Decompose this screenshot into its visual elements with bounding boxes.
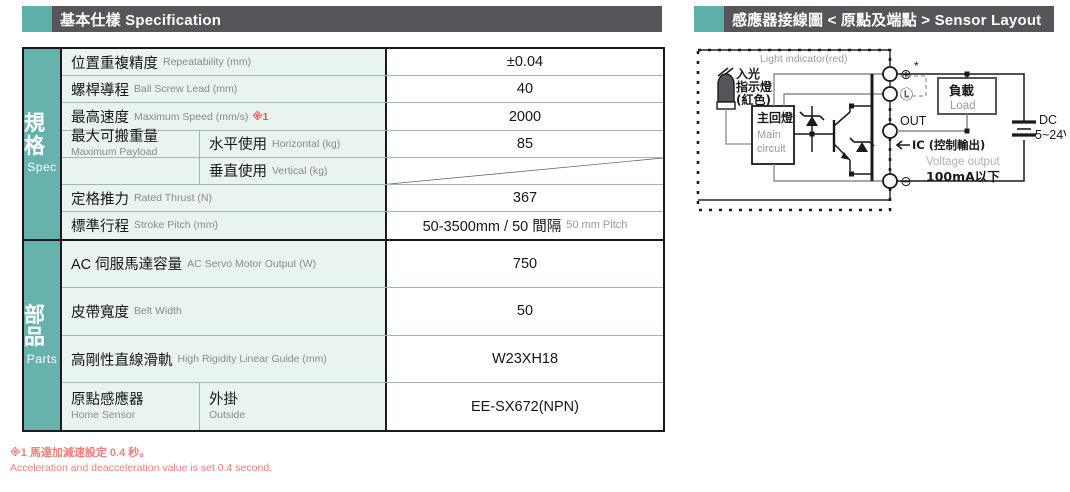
footnote-line-en: Acceleration and deacceleration value is…	[10, 461, 272, 475]
load-label-en: Load	[950, 100, 976, 112]
load-label-cn: 負載	[949, 83, 975, 98]
terminal-plus-label: ⊕	[900, 67, 912, 83]
main-circuit-label-cn: 主回燈	[757, 110, 794, 125]
row-value: 50-3500mm / 50 間隔 50 mm Pitch	[387, 212, 663, 238]
table-row: 螺桿導程 Ball Screw Lead (mm) 40	[62, 75, 663, 102]
row-label-cn: 最大可搬重量	[71, 129, 158, 146]
row-label: 定格推力 Rated Thrust (N)	[62, 185, 387, 211]
specification-title: 基本仕樣 Specification	[52, 9, 221, 30]
footnote-line-cn: ※1 馬達加減速設定 0.4 秒。	[10, 446, 272, 461]
row-label-cn: 皮帶寬度	[71, 301, 129, 322]
zener-diode-2-icon	[850, 136, 874, 152]
row-label-cn: 原點感應器	[71, 392, 144, 409]
junction-dot	[965, 72, 970, 77]
table-row: AC 伺服馬達容量 AC Servo Motor Output (W) 750	[62, 241, 663, 288]
light-indicator-label-cn2: 指示燈	[736, 79, 773, 94]
row-sublabel-cn: 外掛	[209, 392, 238, 409]
row-sublabel-horizontal: 水平使用 Horizontal (kg)	[200, 131, 387, 157]
dc-supply-icon	[1012, 122, 1036, 135]
table-row: 最高速度 Maximum Speed (mm/s) ※1 2000	[62, 102, 663, 129]
row-label: AC 伺服馬達容量 AC Servo Motor Output (W)	[62, 241, 387, 288]
row-label-cn: 位置重複精度	[71, 52, 158, 73]
terminal-l-node	[883, 87, 897, 101]
row-value-text: ±0.04	[507, 54, 543, 70]
row-label-cn: 定格推力	[71, 188, 129, 209]
row-sublabel-vertical: 垂直使用 Vertical (kg)	[200, 158, 387, 184]
row-value-text: 367	[513, 190, 537, 206]
junction-dot	[849, 172, 854, 177]
sensor-layout-title: 感應器接線圖 < 原點及端點 > Sensor Layout	[724, 9, 1041, 30]
row-value-text: 750	[513, 256, 537, 272]
row-sublabel-en: Outside	[209, 409, 245, 422]
table-group-spec: 規格 Spec 位置重複精度 Repeatability (mm) ±0.04 …	[24, 49, 663, 239]
row-value-text: 85	[517, 136, 533, 152]
table-row: 垂直使用 Vertical (kg)	[62, 157, 663, 184]
group-rows-spec: 位置重複精度 Repeatability (mm) ±0.04 螺桿導程 Bal…	[62, 49, 663, 239]
row-value-text: 50	[517, 303, 533, 319]
light-indicator-label-en: Light indicator(red)	[760, 53, 848, 65]
header-accent-block	[694, 6, 724, 32]
dc-range-label: 5~24V	[1035, 128, 1066, 142]
row-value-subtext: 50 mm Pitch	[566, 219, 627, 231]
row-label-cn: 標準行程	[71, 215, 129, 236]
header-accent-block	[22, 6, 52, 32]
terminal-out-node	[883, 124, 897, 138]
row-label: 螺桿導程 Ball Screw Lead (mm)	[62, 76, 387, 102]
row-value: 85	[387, 131, 663, 157]
row-sublabel-cn: 垂直使用	[209, 160, 267, 181]
sensor-layout-section-header: 感應器接線圖 < 原點及端點 > Sensor Layout	[694, 6, 1054, 32]
table-row: 定格推力 Rated Thrust (N) 367	[62, 184, 663, 211]
sensor-wiring-diagram: Light indicator(red) 入光 指示燈 (紅色) 主回燈 Mai…	[694, 44, 1066, 216]
voltage-output-label: Voltage output	[926, 156, 1000, 168]
light-indicator-label-cn1: 入光	[736, 66, 760, 81]
table-row: 最大可搬重量 Maximum Payload 水平使用 Horizontal (…	[62, 130, 663, 157]
group-label-cn: 部品	[24, 305, 60, 350]
row-label-footnote-mark: ※1	[252, 111, 268, 123]
row-label-en: Stroke Pitch (mm)	[134, 219, 218, 231]
row-value-text: 40	[517, 81, 533, 97]
junction-dot	[965, 129, 970, 134]
terminal-minus-label: ⊖	[900, 174, 912, 190]
row-value: EE-SX672(NPN)	[387, 383, 663, 430]
row-label-payload-spacer	[62, 158, 200, 184]
ic-arrow-icon	[897, 141, 910, 149]
row-label-cn: 螺桿導程	[71, 79, 129, 100]
group-label-parts: 部品 Parts	[24, 241, 62, 431]
row-label: 標準行程 Stroke Pitch (mm)	[62, 212, 387, 238]
row-sublabel-cn: 水平使用	[209, 133, 267, 154]
row-label-en: Maximum Speed (mm/s)	[134, 111, 248, 123]
table-row: 原點感應器 Home Sensor 外掛 Outside EE-SX672(NP…	[62, 382, 663, 430]
row-label-en: High Rigidity Linear Guide (mm)	[178, 353, 327, 365]
row-label: 最高速度 Maximum Speed (mm/s) ※1	[62, 103, 387, 129]
terminal-out-label: OUT	[900, 114, 927, 128]
main-circuit-label-en1: Main	[757, 129, 781, 141]
wire-l	[784, 94, 890, 106]
row-value: W23XH18	[387, 336, 663, 383]
row-label-en: Repeatability (mm)	[163, 56, 251, 68]
row-label: 皮帶寬度 Belt Width	[62, 288, 387, 335]
dc-label: DC	[1039, 113, 1057, 127]
row-label-en: Rated Thrust (N)	[134, 192, 212, 204]
row-label-en: Belt Width	[134, 305, 182, 317]
row-label-home-sensor: 原點感應器 Home Sensor	[62, 383, 200, 430]
row-value: 2000	[387, 103, 663, 129]
row-label-en: AC Servo Motor Output (W)	[187, 258, 316, 270]
row-value-text: 2000	[509, 109, 541, 125]
row-label-cn: 最高速度	[71, 106, 129, 127]
table-group-parts: 部品 Parts AC 伺服馬達容量 AC Servo Motor Output…	[24, 239, 663, 431]
row-value-text: W23XH18	[492, 351, 558, 367]
row-label-cn: AC 伺服馬達容量	[71, 253, 182, 274]
row-value: 367	[387, 185, 663, 211]
ic-label: IC (控制輸出)	[912, 138, 985, 152]
row-value: 40	[387, 76, 663, 102]
row-sublabel-en: Vertical (kg)	[272, 165, 327, 177]
table-row: 皮帶寬度 Belt Width 50	[62, 287, 663, 335]
row-sublabel-en: Horizontal (kg)	[272, 138, 340, 150]
sensor-circuit-svg: Light indicator(red) 入光 指示燈 (紅色) 主回燈 Mai…	[694, 44, 1066, 216]
row-label-en: Ball Screw Lead (mm)	[134, 83, 237, 95]
row-value: 50	[387, 288, 663, 335]
row-value-not-applicable	[387, 158, 663, 184]
main-circuit-label-en2: circuit	[757, 143, 786, 155]
junction-dot	[849, 104, 854, 109]
row-label: 高剛性直線滑軌 High Rigidity Linear Guide (mm)	[62, 336, 387, 383]
row-label: 位置重複精度 Repeatability (mm)	[62, 49, 387, 75]
row-value-text: 50-3500mm / 50 間隔	[423, 215, 562, 236]
terminal-plus-asterisk: *	[914, 59, 919, 73]
group-label-spec: 規格 Spec	[24, 49, 62, 239]
table-row: 高剛性直線滑軌 High Rigidity Linear Guide (mm) …	[62, 335, 663, 383]
group-label-cn: 規格	[24, 113, 60, 158]
row-label-cn: 高剛性直線滑軌	[71, 349, 173, 370]
footnote: ※1 馬達加減速設定 0.4 秒。 Acceleration and deacc…	[10, 446, 272, 475]
header-bar: 基本仕樣 Specification	[52, 6, 662, 32]
row-value: ±0.04	[387, 49, 663, 75]
row-value-text: EE-SX672(NPN)	[471, 399, 579, 415]
terminal-plus-node	[883, 67, 897, 81]
current-limit-label: 100mA以下	[926, 169, 1000, 184]
terminal-minus-node	[883, 174, 897, 188]
table-row: 標準行程 Stroke Pitch (mm) 50-3500mm / 50 間隔…	[62, 211, 663, 238]
group-label-en: Parts	[27, 352, 58, 366]
group-label-en: Spec	[27, 160, 56, 174]
light-indicator-label-cn3: (紅色)	[736, 92, 771, 107]
row-value: 750	[387, 241, 663, 288]
row-label-payload: 最大可搬重量 Maximum Payload	[62, 131, 200, 157]
specification-page: 基本仕樣 Specification 感應器接線圖 < 原點及端點 > Sens…	[0, 0, 1070, 492]
table-row: 位置重複精度 Repeatability (mm) ±0.04	[62, 49, 663, 75]
group-rows-parts: AC 伺服馬達容量 AC Servo Motor Output (W) 750 …	[62, 241, 663, 431]
zener-diode-icon	[800, 106, 824, 152]
specification-table: 規格 Spec 位置重複精度 Repeatability (mm) ±0.04 …	[22, 47, 665, 432]
diagonal-strike-icon	[387, 158, 663, 184]
row-label-en: Home Sensor	[71, 409, 135, 422]
specification-section-header: 基本仕樣 Specification	[22, 6, 662, 32]
header-bar: 感應器接線圖 < 原點及端點 > Sensor Layout	[724, 6, 1054, 32]
row-sublabel-outside: 外掛 Outside	[200, 383, 387, 430]
junction-dot	[810, 132, 815, 137]
